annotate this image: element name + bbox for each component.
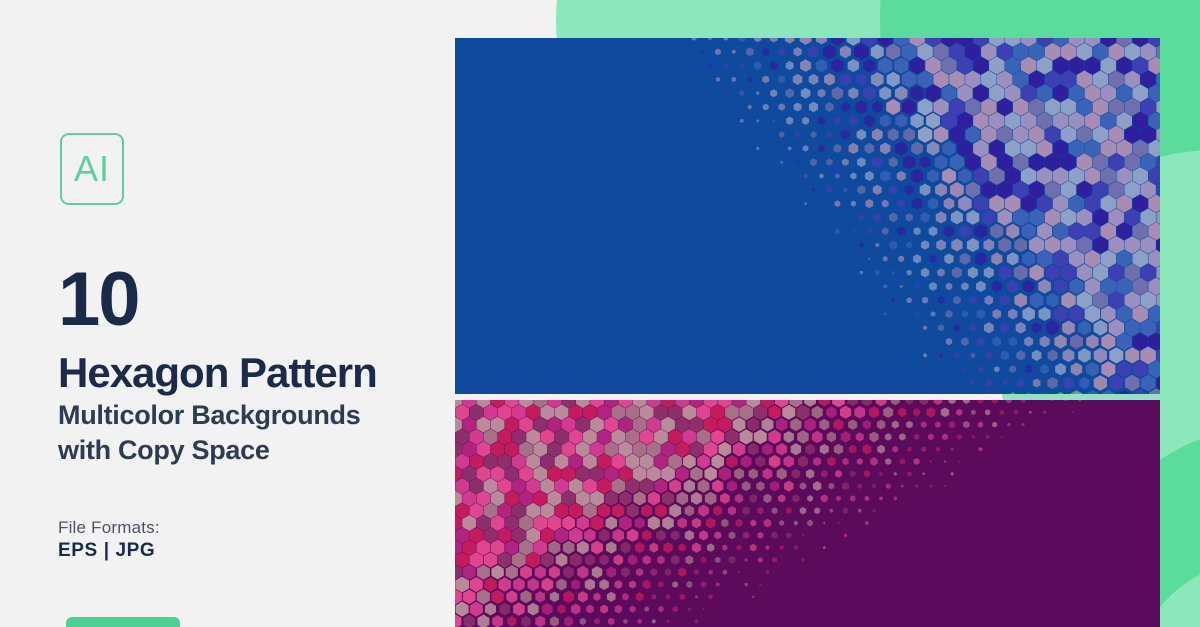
page-subtitle-line-2: with Copy Space — [58, 433, 360, 468]
purple-hexagon-pattern — [455, 400, 1160, 627]
ai-badge-label: AI — [74, 151, 110, 187]
page-subtitle-line-1: Multicolor Backgrounds — [58, 398, 360, 433]
ai-file-badge-icon: AI — [60, 133, 124, 205]
file-formats-label: File Formats: — [58, 518, 160, 538]
page-title: Hexagon Pattern — [58, 352, 377, 394]
blue-hexagon-pattern — [455, 38, 1160, 394]
blue-hexagon-preview[interactable] — [455, 38, 1160, 394]
poster-canvas: AI 10 Hexagon Pattern Multicolor Backgro… — [0, 0, 1200, 627]
info-column: AI 10 Hexagon Pattern Multicolor Backgro… — [0, 0, 455, 627]
page-subtitle: Multicolor Backgrounds with Copy Space — [58, 398, 360, 467]
purple-hexagon-preview[interactable] — [455, 400, 1160, 627]
item-count: 10 — [58, 262, 139, 338]
file-formats-value: EPS | JPG — [58, 540, 155, 562]
cta-button[interactable] — [66, 617, 180, 627]
